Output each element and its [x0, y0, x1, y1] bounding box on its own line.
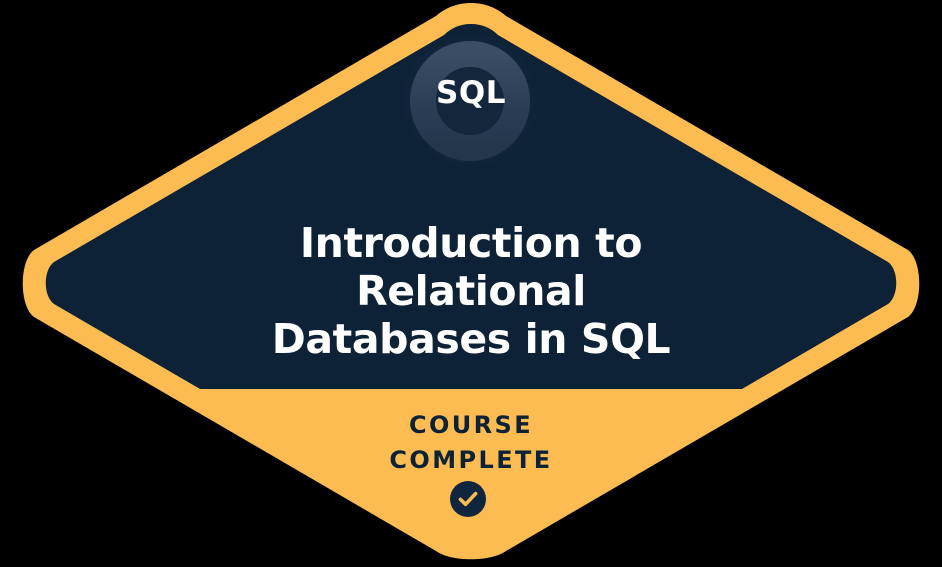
sql-ring-logo-icon	[398, 29, 542, 173]
course-completion-badge: SQL Introduction to Relational Databases…	[0, 0, 942, 567]
check-circle-icon	[450, 481, 486, 517]
